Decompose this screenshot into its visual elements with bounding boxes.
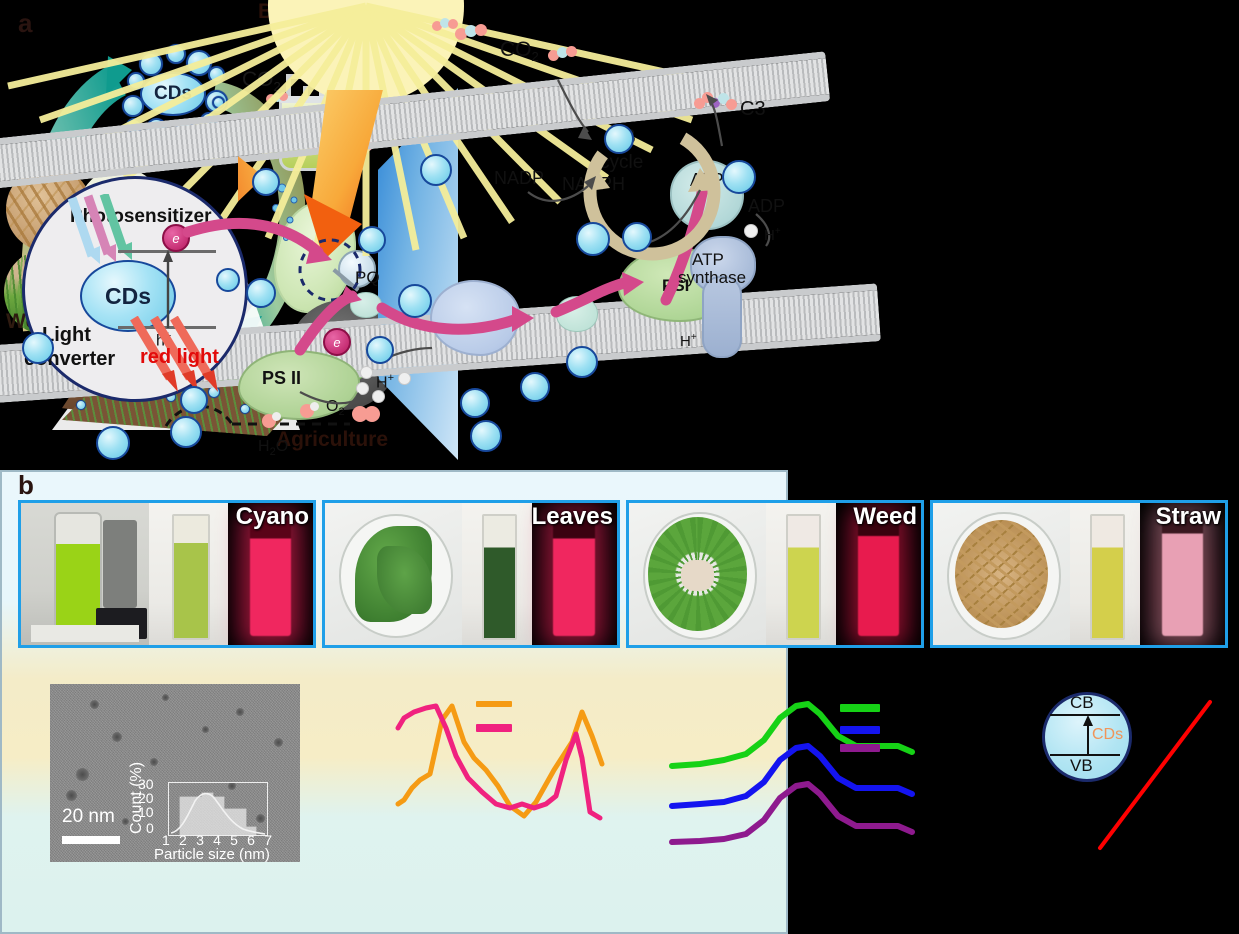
histogram-ylabel: Count (%) (128, 762, 146, 834)
red-trend-line (1090, 696, 1230, 856)
histogram-bars (169, 783, 267, 835)
legend-swatch-orange (476, 701, 512, 707)
photo-box-cyano: Cyano (18, 500, 316, 648)
photo-weed-dish (629, 503, 766, 645)
histogram-ytick-0: 0 (146, 820, 154, 836)
histogram-inset-frame (168, 782, 268, 836)
tem-scale-label: 20 nm (62, 806, 115, 828)
bottom-row: 20 nm 30 20 (0, 676, 1239, 912)
photo-box-weed: Weed (626, 500, 924, 648)
photo-weed-cuvette (766, 503, 836, 645)
photo-tag-leaves: Leaves (532, 503, 613, 531)
spectra-chart-offset-curves (650, 684, 940, 864)
tem-scale-bar (62, 836, 120, 844)
photo-tag-cyano: Cyano (236, 503, 309, 531)
photo-cyano-cuvette (149, 503, 228, 645)
photo-leaves-dish (325, 503, 462, 645)
legend-swatch-blue (840, 726, 880, 734)
spectra-chart-orange-magenta (390, 684, 610, 864)
panel-letter-b: b (18, 470, 34, 501)
photo-leaves-cuvette (462, 503, 532, 645)
photo-box-leaves: Leaves (322, 500, 620, 648)
photo-cyano-reactor (21, 503, 149, 645)
tem-image: 20 nm 30 20 (50, 684, 300, 862)
legend-swatch-magenta (476, 724, 512, 732)
panel-b-photographs: b Cyano (0, 466, 1239, 676)
band-diagram-panel: CB VB CDs (1000, 684, 1239, 874)
legend-swatch-purple (840, 744, 880, 752)
legend-swatch-green (840, 704, 880, 712)
photo-box-straw: Straw (930, 500, 1228, 648)
spectra-svg-1 (390, 684, 610, 864)
figure-root: a Straw Cyano (0, 0, 1239, 912)
spectra-svg-2 (650, 684, 940, 864)
photo-tag-weed: Weed (853, 503, 917, 531)
photo-straw-dish (933, 503, 1070, 645)
photo-tag-straw: Straw (1156, 503, 1221, 531)
photo-straw-cuvette (1070, 503, 1140, 645)
histogram-xlabel: Particle size (nm) (154, 846, 270, 862)
